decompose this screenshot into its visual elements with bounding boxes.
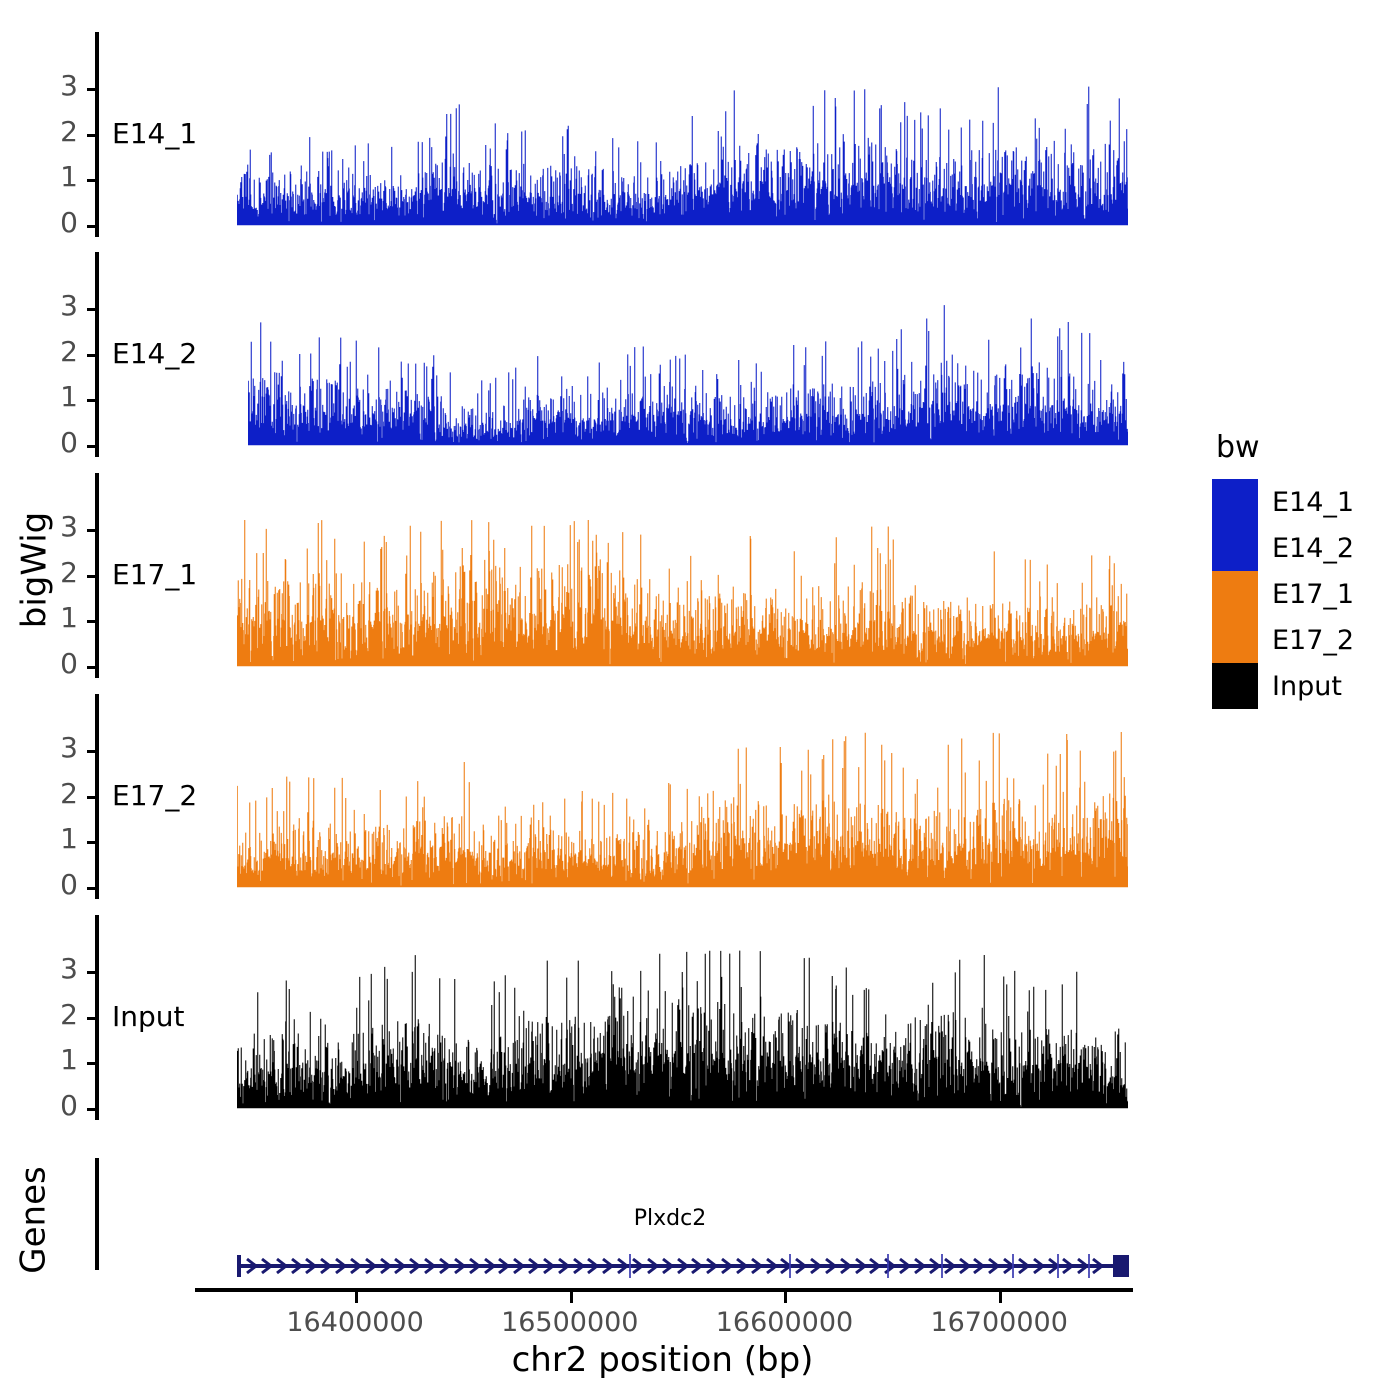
gene-exon-boundary: [789, 1254, 791, 1278]
panel-label-e14_2: E14_2: [112, 337, 197, 370]
y-tick: [87, 225, 99, 228]
gene-strand-arrow-icon: [720, 1257, 736, 1275]
y-tick: [87, 179, 99, 182]
x-tick-label: 16700000: [899, 1307, 1099, 1338]
legend-item-e14_2[interactable]: E14_2: [1212, 525, 1392, 571]
genome-browser-figure: bigWig Genes 0123E14_10123E14_20123E17_1…: [0, 0, 1400, 1400]
gene-strand-arrow-icon: [690, 1257, 706, 1275]
gene-strand-arrow-icon: [290, 1257, 306, 1275]
gene-strand-arrow-icon: [542, 1257, 558, 1275]
y-tick-label: 1: [24, 825, 78, 853]
gene-strand-arrow-icon: [304, 1257, 320, 1275]
panel-label-e17_1: E17_1: [112, 558, 197, 591]
gene-exon-boundary: [629, 1254, 631, 1278]
x-tick: [784, 1292, 787, 1303]
gene-exon-boundary: [1057, 1254, 1059, 1278]
y-tick-label: 0: [24, 429, 78, 457]
y-tick-label: 0: [24, 1092, 78, 1120]
x-tick: [999, 1292, 1002, 1303]
gene-strand-arrow-icon: [364, 1257, 380, 1275]
legend-label: E17_2: [1272, 625, 1354, 656]
legend-swatch: [1212, 617, 1258, 663]
legend-swatch: [1212, 479, 1258, 525]
gene-strand-arrow-icon: [379, 1257, 395, 1275]
y-tick: [87, 529, 99, 532]
legend: bw E14_1E14_2E17_1E17_2Input: [1212, 430, 1392, 709]
gene-strand-arrow-icon: [275, 1257, 291, 1275]
y-tick: [87, 887, 99, 890]
legend-swatch: [1212, 663, 1258, 709]
y-tick-label: 0: [24, 209, 78, 237]
gene-strand-arrow-icon: [601, 1257, 617, 1275]
gene-strand-arrow-icon: [260, 1257, 276, 1275]
panel-label-e17_2: E17_2: [112, 779, 197, 812]
gene-strand-arrow-icon: [898, 1257, 914, 1275]
gene-strand-arrow-icon: [824, 1257, 840, 1275]
gene-strand-arrow-icon: [1002, 1257, 1018, 1275]
y-tick-label: 2: [24, 559, 78, 587]
y-tick: [87, 796, 99, 799]
gene-strand-arrow-icon: [586, 1257, 602, 1275]
y-tick-label: 3: [24, 292, 78, 320]
legend-label: E14_2: [1272, 533, 1354, 564]
y-tick-label: 2: [24, 118, 78, 146]
gene-strand-arrow-icon: [987, 1257, 1003, 1275]
y-tick: [87, 750, 99, 753]
y-tick: [87, 1062, 99, 1065]
gene-strand-arrow-icon: [245, 1257, 261, 1275]
gene-strand-arrow-icon: [750, 1257, 766, 1275]
legend-swatch: [1212, 571, 1258, 617]
coverage-signal-e14_2: [248, 252, 1128, 447]
x-tick-label: 16600000: [684, 1307, 884, 1338]
gene-strand-arrow-icon: [334, 1257, 350, 1275]
coverage-panel-input: 0123Input: [0, 915, 1135, 1120]
gene-strand-arrow-icon: [794, 1257, 810, 1275]
y-tick-label: 3: [24, 72, 78, 100]
y-tick-label: 3: [24, 734, 78, 762]
coverage-signal-e17_1: [237, 473, 1128, 668]
gene-strand-arrow-icon: [512, 1257, 528, 1275]
y-tick: [87, 134, 99, 137]
y-tick-label: 2: [24, 1001, 78, 1029]
gene-strand-arrow-icon: [453, 1257, 469, 1275]
y-tick: [87, 841, 99, 844]
y-tick: [87, 666, 99, 669]
gene-strand-arrow-icon: [958, 1257, 974, 1275]
gene-strand-arrow-icon: [868, 1257, 884, 1275]
x-tick: [355, 1292, 358, 1303]
legend-item-e14_1[interactable]: E14_1: [1212, 479, 1392, 525]
gene-strand-arrow-icon: [779, 1257, 795, 1275]
gene-strand-arrow-icon: [483, 1257, 499, 1275]
gene-strand-arrow-icon: [438, 1257, 454, 1275]
legend-label: E17_1: [1272, 579, 1354, 610]
legend-item-e17_2[interactable]: E17_2: [1212, 617, 1392, 663]
y-tick: [87, 88, 99, 91]
y-tick-label: 1: [24, 163, 78, 191]
y-tick: [87, 1017, 99, 1020]
coverage-panel-e17_1: 0123E17_1: [0, 473, 1135, 678]
coverage-signal-e17_2: [237, 694, 1128, 889]
y-tick-label: 0: [24, 650, 78, 678]
gene-strand-arrow-icon: [883, 1257, 899, 1275]
y-tick: [87, 445, 99, 448]
gene-strand-arrow-icon: [631, 1257, 647, 1275]
gene-exon-block: [1113, 1255, 1129, 1277]
gene-strand-arrow-icon: [676, 1257, 692, 1275]
gene-strand-arrow-icon: [705, 1257, 721, 1275]
coverage-panel-e14_1: 0123E14_1: [0, 32, 1135, 237]
gene-strand-arrow-icon: [1032, 1257, 1048, 1275]
y-tick-label: 2: [24, 780, 78, 808]
gene-strand-arrow-icon: [408, 1257, 424, 1275]
panel-label-input: Input: [112, 1000, 185, 1033]
y-tick-label: 1: [24, 604, 78, 632]
gene-strand-arrow-icon: [1076, 1257, 1092, 1275]
gene-strand-arrow-icon: [468, 1257, 484, 1275]
y-tick-label: 2: [24, 338, 78, 366]
gene-strand-arrow-icon: [557, 1257, 573, 1275]
y-tick: [87, 354, 99, 357]
gene-strand-arrow-icon: [854, 1257, 870, 1275]
coverage-panel-e17_2: 0123E17_2: [0, 694, 1135, 899]
gene-exon-boundary: [1088, 1254, 1090, 1278]
gene-strand-arrow-icon: [972, 1257, 988, 1275]
gene-strand-arrow-icon: [423, 1257, 439, 1275]
y-tick-label: 0: [24, 871, 78, 899]
gene-strand-arrow-icon: [943, 1257, 959, 1275]
legend-title: bw: [1212, 430, 1392, 465]
coverage-signal-e14_1: [237, 32, 1128, 227]
y-tick: [87, 308, 99, 311]
gene-strand-arrow-icon: [497, 1257, 513, 1275]
gene-exon-boundary: [941, 1254, 943, 1278]
x-tick-label: 16400000: [255, 1307, 455, 1338]
x-tick: [570, 1292, 573, 1303]
legend-label: Input: [1272, 671, 1342, 702]
gene-exon-boundary: [887, 1254, 889, 1278]
legend-items: E14_1E14_2E17_1E17_2Input: [1212, 479, 1392, 709]
y-tick-label: 3: [24, 955, 78, 983]
gene-strand-arrow-icon: [1061, 1257, 1077, 1275]
legend-label: E14_1: [1272, 487, 1354, 518]
gene-exon-boundary: [1012, 1254, 1014, 1278]
gene-strand-arrow-icon: [661, 1257, 677, 1275]
coverage-signal-input: [237, 915, 1128, 1110]
y-tick-label: 1: [24, 1046, 78, 1074]
y-tick: [87, 1108, 99, 1111]
legend-item-input[interactable]: Input: [1212, 663, 1392, 709]
x-tick-label: 16500000: [470, 1307, 670, 1338]
gene-strand-arrow-icon: [572, 1257, 588, 1275]
gene-strand-arrow-icon: [839, 1257, 855, 1275]
gene-strand-arrow-icon: [735, 1257, 751, 1275]
gene-start-marker: [237, 1255, 241, 1277]
y-tick-label: 3: [24, 513, 78, 541]
gene-strand-arrow-icon: [913, 1257, 929, 1275]
gene-model[interactable]: [237, 1255, 1128, 1277]
legend-item-e17_1[interactable]: E17_1: [1212, 571, 1392, 617]
gene-strand-arrow-icon: [319, 1257, 335, 1275]
gene-strand-arrow-icon: [765, 1257, 781, 1275]
y-tick: [87, 620, 99, 623]
y-tick: [87, 971, 99, 974]
gene-strand-arrow-icon: [809, 1257, 825, 1275]
gene-strand-arrow-icon: [1017, 1257, 1033, 1275]
x-axis-title: chr2 position (bp): [195, 1340, 1130, 1380]
gene-panel-spine: [95, 1158, 99, 1270]
gene-strand-arrow-icon: [1091, 1257, 1107, 1275]
y-tick-label: 1: [24, 383, 78, 411]
gene-strand-arrow-icon: [393, 1257, 409, 1275]
x-axis-line: [195, 1288, 1133, 1292]
y-tick: [87, 575, 99, 578]
y-tick: [87, 399, 99, 402]
gene-strand-arrow-icon: [646, 1257, 662, 1275]
gene-strand-arrow-icon: [1047, 1257, 1063, 1275]
gene-strand-arrow-icon: [527, 1257, 543, 1275]
coverage-panel-e14_2: 0123E14_2: [0, 252, 1135, 457]
gene-label: Plxdc2: [560, 1206, 780, 1231]
panel-label-e14_1: E14_1: [112, 117, 197, 150]
legend-swatch: [1212, 525, 1258, 571]
gene-strand-arrow-icon: [349, 1257, 365, 1275]
